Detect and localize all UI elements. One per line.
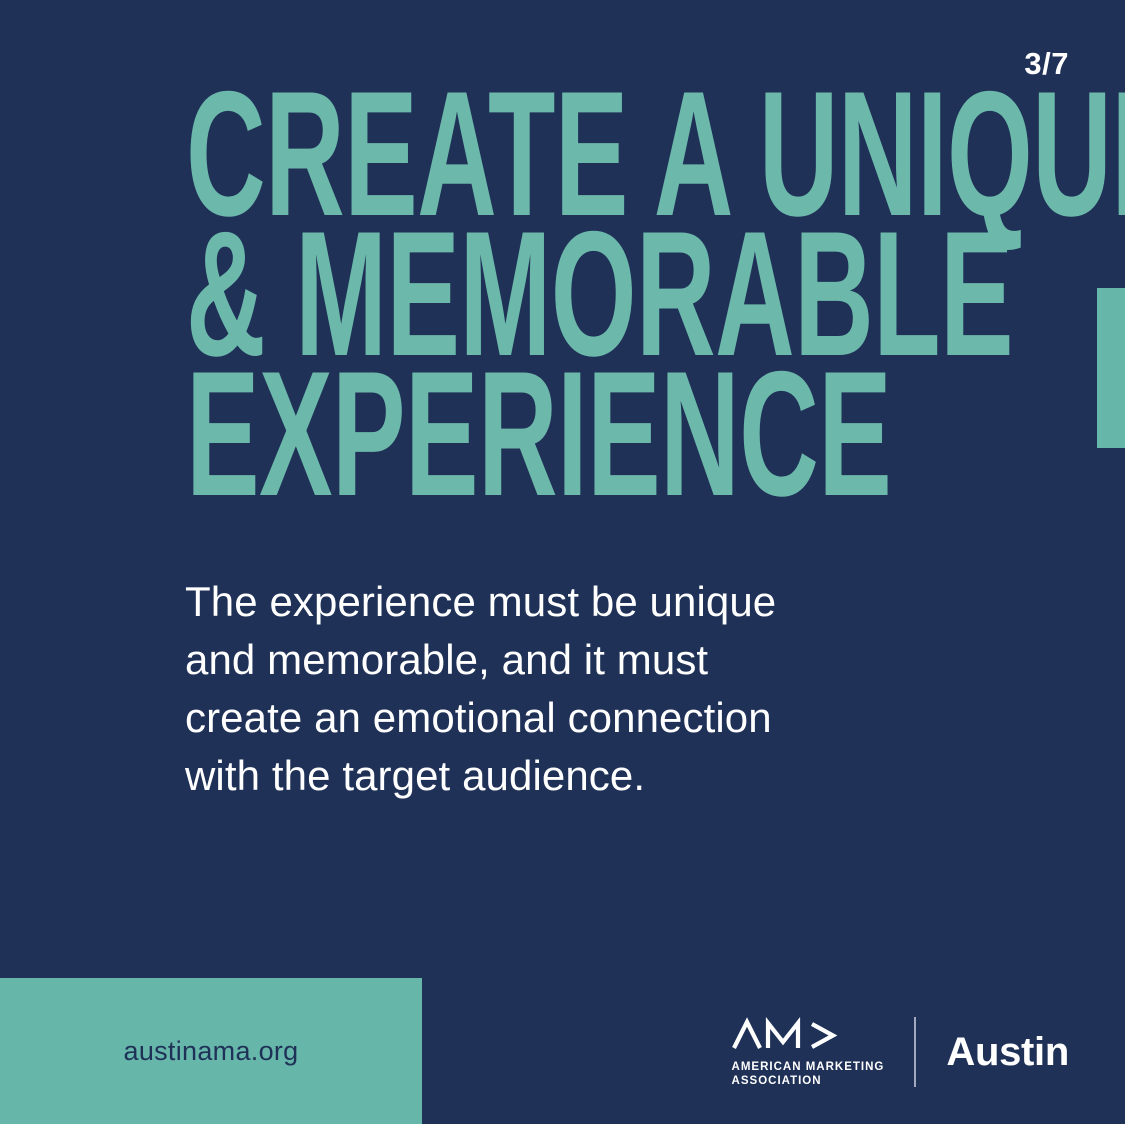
chapter-name: Austin xyxy=(946,1030,1069,1075)
ama-subtitle: AMERICAN MARKETING ASSOCIATION xyxy=(732,1060,885,1088)
website-url-text: austinama.org xyxy=(124,1036,299,1067)
body-line-3: create an emotional connection xyxy=(185,689,945,747)
body-paragraph: The experience must be unique and memora… xyxy=(185,573,945,805)
ama-wordmark-icon xyxy=(732,1017,852,1053)
logo-divider xyxy=(914,1017,916,1087)
body-line-2: and memorable, and it must xyxy=(185,631,945,689)
ama-subtitle-line-1: AMERICAN MARKETING xyxy=(732,1060,885,1074)
body-line-4: with the target audience. xyxy=(185,747,945,805)
page-title: CREATE A UNIQUE & MEMORABLE EXPERIENCE xyxy=(186,84,682,504)
slide-canvas: 3/7 CREATE A UNIQUE & MEMORABLE EXPERIEN… xyxy=(0,0,1125,1124)
ama-logo-icon: AMERICAN MARKETING ASSOCIATION xyxy=(732,1017,915,1088)
body-line-1: The experience must be unique xyxy=(185,573,945,631)
edge-accent-bar xyxy=(1097,288,1125,448)
website-url-block[interactable]: austinama.org xyxy=(0,978,422,1124)
brand-logo-lockup: AMERICAN MARKETING ASSOCIATION Austin xyxy=(732,1013,1069,1091)
headline-line-3: EXPERIENCE xyxy=(186,364,682,504)
ama-subtitle-line-2: ASSOCIATION xyxy=(732,1074,885,1088)
